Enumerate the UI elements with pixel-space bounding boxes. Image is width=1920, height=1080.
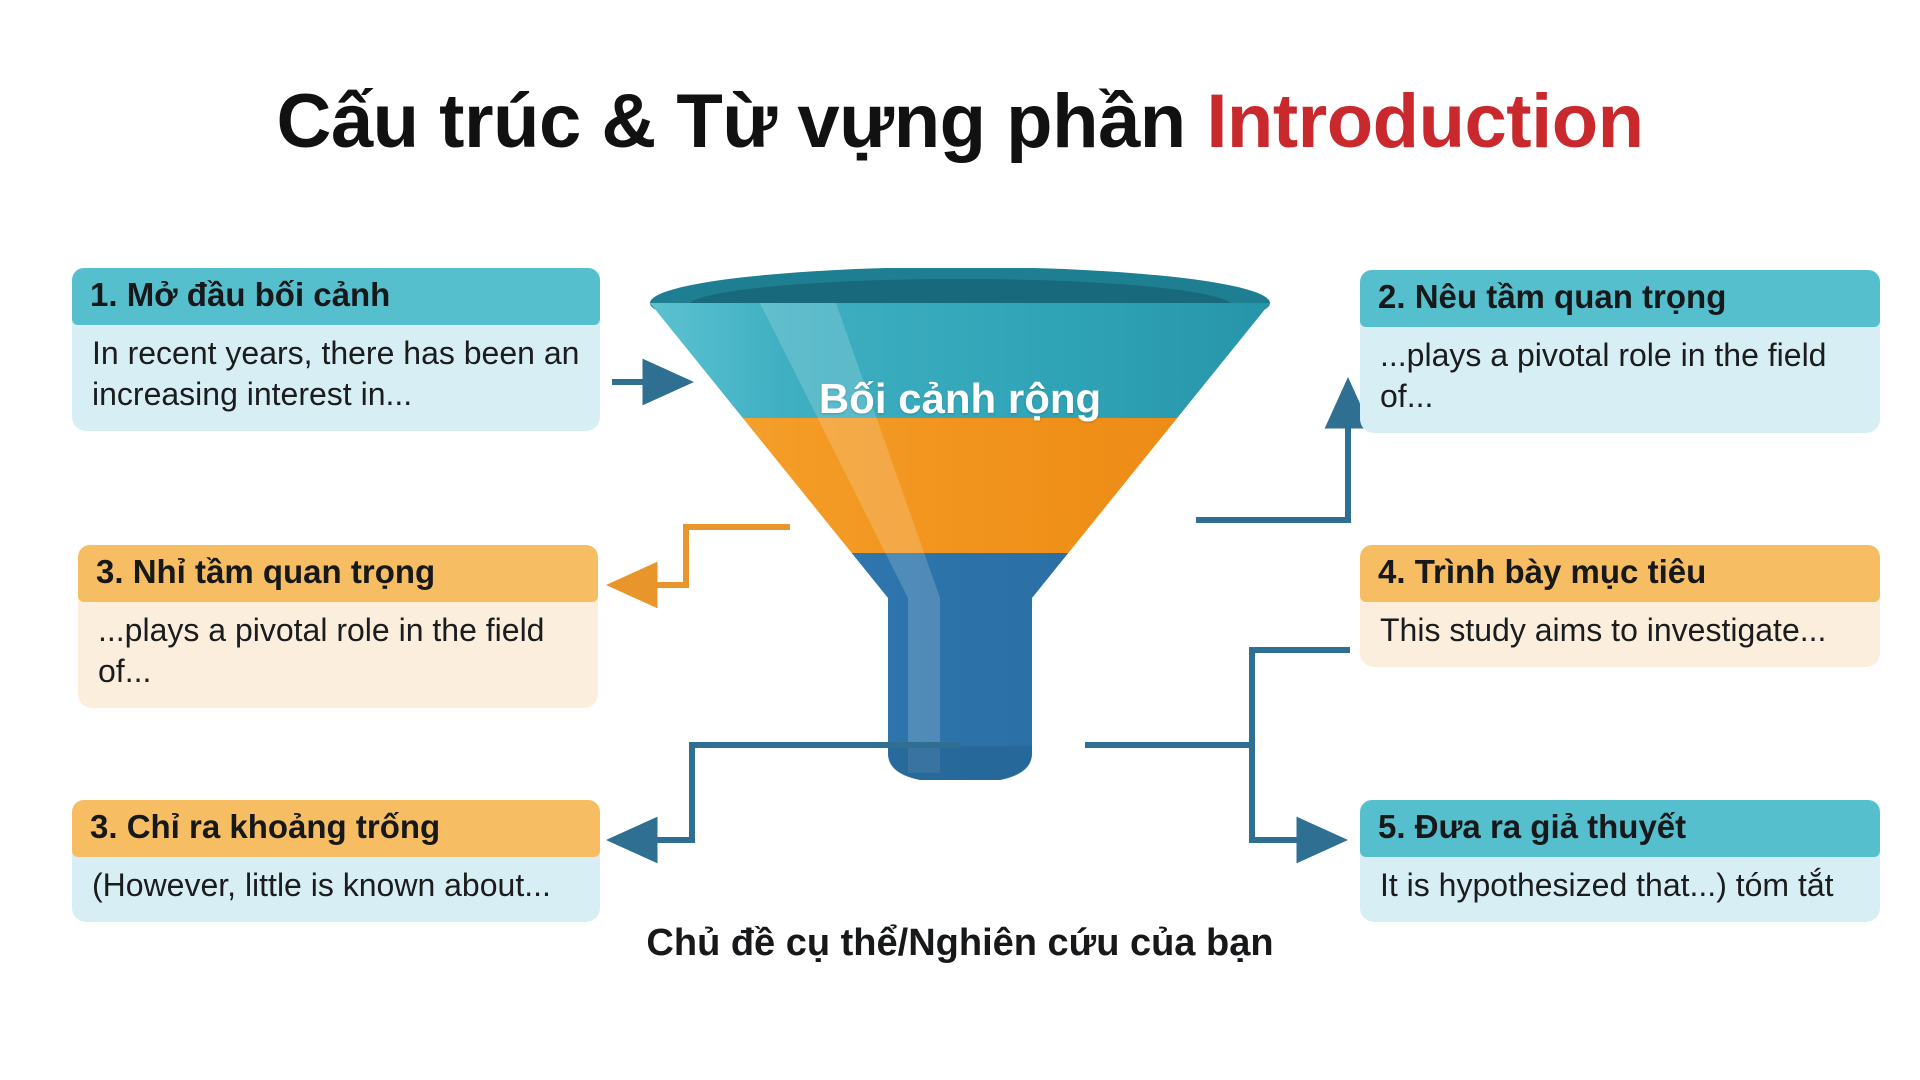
funnel-band-orange bbox=[640, 418, 1280, 553]
card-header: 1. Mở đầu bối cảnh bbox=[72, 268, 600, 325]
page-title-accent: Introduction bbox=[1206, 79, 1643, 164]
card-header: 3. Chỉ ra khoảng trống bbox=[72, 800, 600, 857]
card-open-context[interactable]: 1. Mở đầu bối cảnh In recent years, ther… bbox=[72, 268, 600, 431]
card-hypothesis[interactable]: 5. Đưa ra giả thuyết It is hypothesized … bbox=[1360, 800, 1880, 922]
funnel-stem-cap bbox=[888, 746, 1032, 780]
card-body: ...plays a pivotal role in the field of.… bbox=[1360, 323, 1880, 433]
card-body: In recent years, there has been an incre… bbox=[72, 321, 600, 431]
funnel-band-teal bbox=[640, 298, 1280, 418]
infographic-canvas: Cấu trúc & Từ vựng phần Introduction bbox=[0, 0, 1920, 1080]
card-state-importance-right[interactable]: 2. Nêu tầm quan trọng ...plays a pivotal… bbox=[1360, 270, 1880, 433]
card-header: 3. Nhỉ tầm quan trọng bbox=[78, 545, 598, 602]
card-state-objective[interactable]: 4. Trình bày mục tiêu This study aims to… bbox=[1360, 545, 1880, 667]
page-title: Cấu trúc & Từ vựng phần Introduction bbox=[0, 78, 1920, 165]
card-state-importance-left[interactable]: 3. Nhỉ tầm quan trọng ...plays a pivotal… bbox=[78, 545, 598, 708]
card-body: It is hypothesized that...) tóm tắt bbox=[1360, 853, 1880, 922]
card-header: 4. Trình bày mục tiêu bbox=[1360, 545, 1880, 602]
card-identify-gap[interactable]: 3. Chỉ ra khoảng trống (However, little … bbox=[72, 800, 600, 922]
page-title-main: Cấu trúc & Từ vựng phần bbox=[276, 79, 1206, 164]
card-body: (However, little is known about... bbox=[72, 853, 600, 922]
card-body: ...plays a pivotal role in the field of.… bbox=[78, 598, 598, 708]
funnel-graphic bbox=[640, 268, 1280, 908]
card-header: 5. Đưa ra giả thuyết bbox=[1360, 800, 1880, 857]
card-header: 2. Nêu tầm quan trọng bbox=[1360, 270, 1880, 327]
card-body: This study aims to investigate... bbox=[1360, 598, 1880, 667]
funnel-bottom-caption: Chủ đề cụ thể/Nghiên cứu của bạn bbox=[620, 920, 1300, 966]
